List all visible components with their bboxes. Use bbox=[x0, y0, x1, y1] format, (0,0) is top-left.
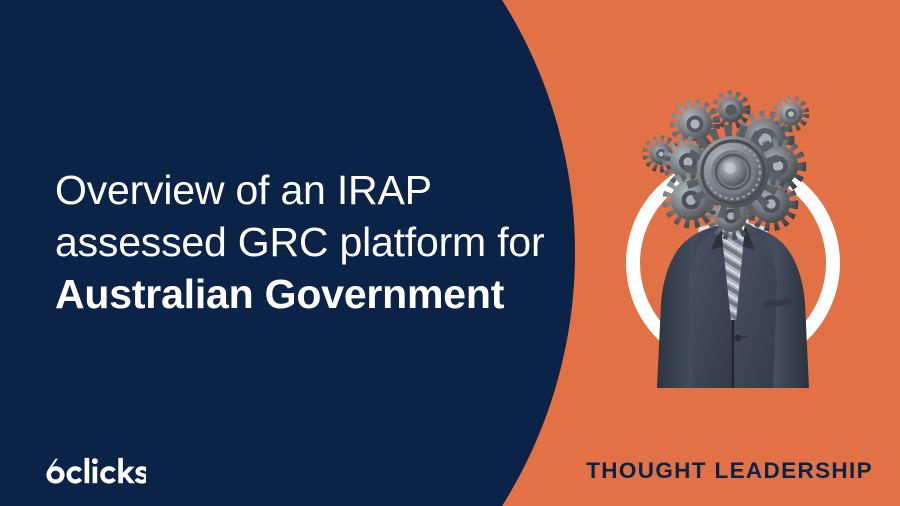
headline-line-1: Overview of an IRAP bbox=[55, 164, 585, 216]
page-title: Overview of an IRAP assessed GRC platfor… bbox=[55, 164, 585, 320]
headline-line-3: Australian Government bbox=[55, 268, 585, 320]
hero-illustration bbox=[613, 88, 853, 388]
6clicks-wordmark-icon bbox=[42, 457, 146, 485]
slide-canvas: Overview of an IRAP assessed GRC platfor… bbox=[0, 0, 900, 506]
6clicks-logo[interactable] bbox=[42, 457, 146, 485]
thought-leadership-label: THOUGHT LEADERSHIP bbox=[586, 458, 873, 484]
gear-cluster-icon bbox=[646, 94, 806, 236]
headline-line-2: assessed GRC platform for bbox=[55, 216, 585, 268]
